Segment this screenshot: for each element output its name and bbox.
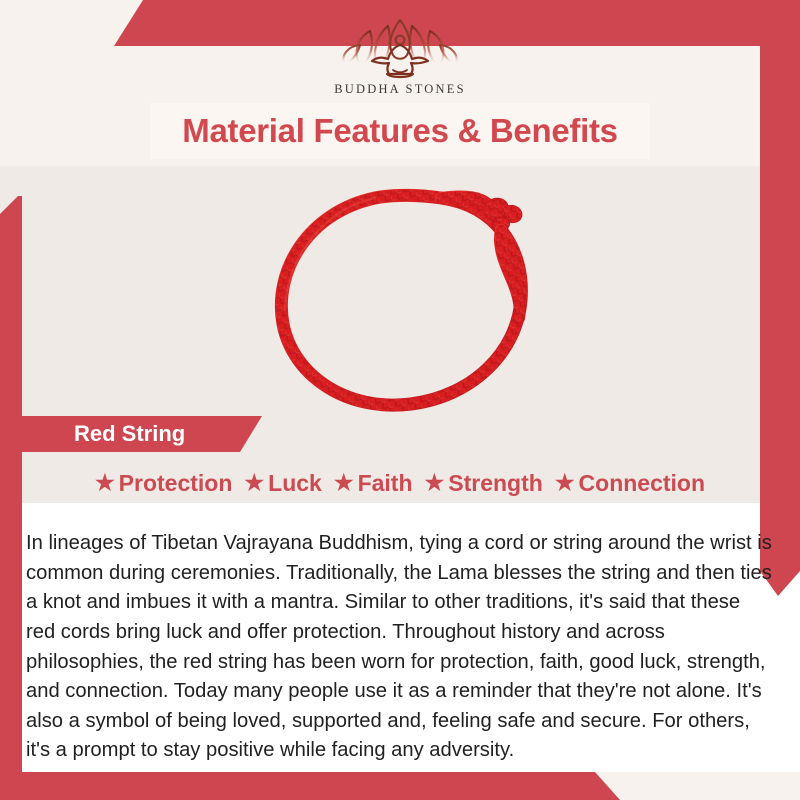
star-icon: ★ bbox=[244, 472, 264, 494]
decor-left-red-bar bbox=[0, 196, 22, 776]
benefit-label: Luck bbox=[268, 472, 322, 495]
benefit-item-3: ★ Strength bbox=[419, 472, 549, 495]
page-title: Material Features & Benefits bbox=[182, 112, 617, 150]
star-icon: ★ bbox=[425, 472, 445, 494]
star-icon: ★ bbox=[555, 472, 575, 494]
infographic-page: BUDDHA STONES Material Features & Benefi… bbox=[0, 0, 800, 800]
brand-logo: BUDDHA STONES bbox=[0, 14, 800, 104]
lotus-meditation-icon bbox=[325, 14, 475, 80]
brand-wordmark: BUDDHA STONES bbox=[334, 82, 466, 97]
decor-bottom-red-bar bbox=[0, 772, 620, 800]
benefit-label: Connection bbox=[579, 472, 706, 495]
product-name-ribbon: Red String bbox=[22, 416, 262, 452]
benefit-item-4: ★ Connection bbox=[549, 472, 711, 495]
star-icon: ★ bbox=[334, 472, 354, 494]
description-text: In lineages of Tibetan Vajrayana Buddhis… bbox=[26, 529, 774, 766]
benefit-item-0: ★ Protection bbox=[89, 472, 238, 495]
benefit-label: Faith bbox=[358, 472, 413, 495]
product-image bbox=[225, 168, 595, 430]
benefit-label: Protection bbox=[119, 472, 233, 495]
benefit-item-2: ★ Faith bbox=[328, 472, 419, 495]
product-name-label: Red String bbox=[74, 421, 185, 447]
benefit-item-1: ★ Luck bbox=[238, 472, 327, 495]
benefits-row: ★ Protection ★ Luck ★ Faith ★ Strength ★… bbox=[22, 465, 778, 501]
star-icon: ★ bbox=[95, 472, 115, 494]
benefit-label: Strength bbox=[448, 472, 543, 495]
title-banner: Material Features & Benefits bbox=[150, 103, 650, 159]
